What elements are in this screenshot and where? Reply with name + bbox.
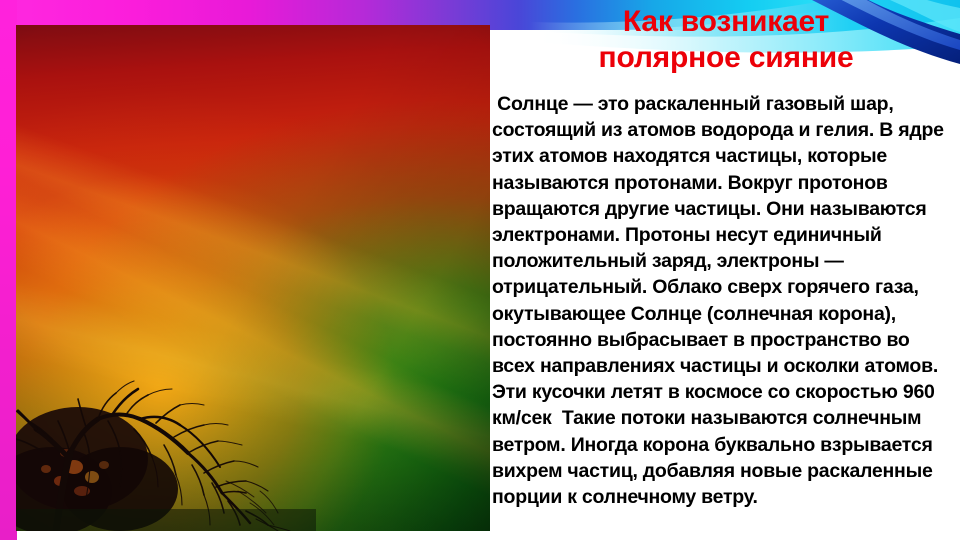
tree-silhouette: [16, 341, 316, 531]
page-title-line-2: полярное сияние: [500, 40, 952, 76]
body-paragraph: Солнце — это раскаленный газовый шар, со…: [492, 91, 952, 510]
aurora-photo: [16, 25, 490, 531]
decorative-left-sliver: [0, 0, 17, 540]
page-title: Как возникает полярное сияние: [500, 4, 952, 76]
page-title-line-1: Как возникает: [500, 4, 952, 40]
slide-canvas: Как возникает полярное сияние Солнце — э…: [0, 0, 960, 540]
